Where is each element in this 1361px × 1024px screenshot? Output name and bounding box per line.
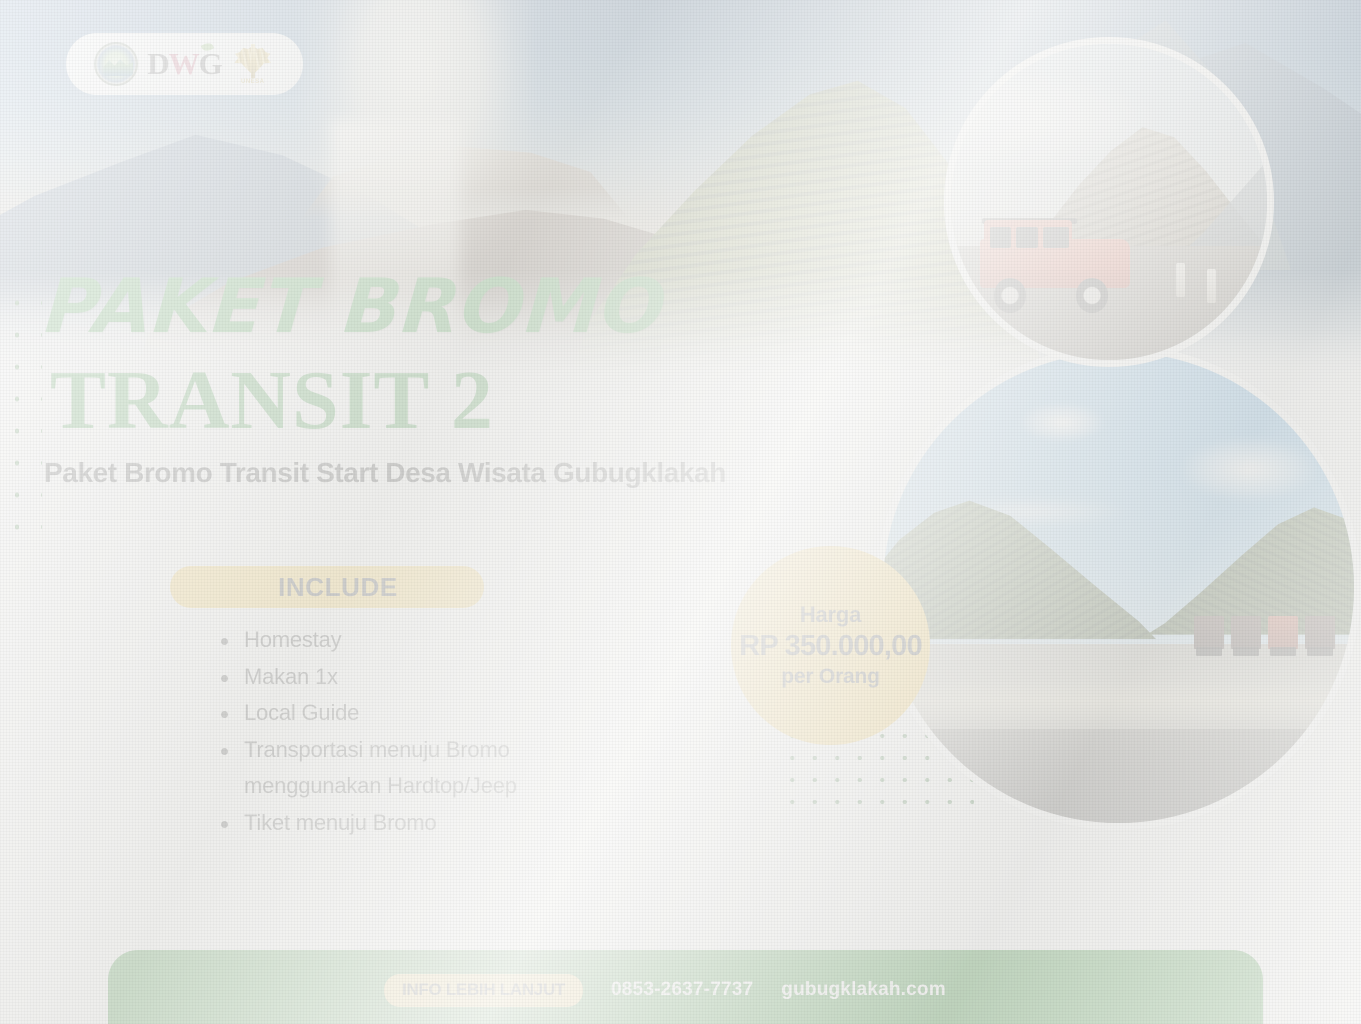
- caldera-jeep-row: [1194, 616, 1335, 649]
- jeep-wheel: [994, 278, 1026, 312]
- caldera-sand-foreground: [883, 729, 1354, 823]
- price-label: Harga: [800, 602, 861, 628]
- page-title-line1: PAKET BROMO: [42, 262, 671, 350]
- dwg-wordmark-logo: DWG: [147, 46, 222, 82]
- jeep-icon: [1268, 616, 1298, 649]
- contact-website[interactable]: gubugklakah.com: [781, 979, 946, 1001]
- jeep-window: [990, 227, 1010, 248]
- page-title-line2: TRANSIT 2: [50, 352, 494, 449]
- jeep-window: [1016, 227, 1038, 248]
- list-item: Homestay: [214, 622, 634, 659]
- contact-footer-bar: INFO LEBIH LANJUT 0853-2637-7737 gubugkl…: [108, 950, 1263, 1024]
- info-cta-badge[interactable]: INFO LEBIH LANJUT: [384, 974, 583, 1007]
- jeep-icon: [1231, 616, 1261, 649]
- caldera-cloud: [1166, 427, 1326, 512]
- unesa-label: UNESA: [231, 79, 275, 85]
- unesa-emblem-icon: UNESA: [231, 42, 275, 86]
- jeep-wheel: [1076, 278, 1108, 312]
- include-badge-label: INCLUDE: [170, 566, 484, 608]
- caldera-cloud: [1015, 399, 1109, 446]
- dwg-letter-g: G: [199, 46, 222, 82]
- jeep-icon: [1194, 616, 1224, 649]
- price-unit: per Orang: [781, 665, 880, 689]
- promotional-poster: DWG UNESA PAKET BROMO TRANSIT 2 Paket Br…: [0, 0, 1361, 1024]
- list-item: Tiket menuju Bromo: [214, 805, 634, 842]
- marker-post-icon: [1207, 269, 1216, 303]
- include-list: Homestay Makan 1x Local Guide Transporta…: [214, 622, 634, 841]
- page-subtitle: Paket Bromo Transit Start Desa Wisata Gu…: [44, 457, 726, 489]
- list-item: Local Guide: [214, 695, 634, 732]
- list-item: Makan 1x: [214, 659, 634, 696]
- dwg-letter-w: W: [169, 46, 199, 82]
- dwg-letter-d: D: [147, 46, 168, 82]
- list-item: Transportasi menuju Bromo menggunakan Ha…: [214, 732, 634, 805]
- price-amount: RP 350.000,00: [739, 630, 922, 663]
- include-badge: INCLUDE: [170, 566, 484, 608]
- bromo-caldera-photo: [876, 345, 1361, 830]
- logo-bar: DWG UNESA: [66, 33, 303, 95]
- decorative-dot-grid-left: [0, 283, 42, 548]
- red-jeep-icon: [970, 218, 1141, 313]
- desa-wisata-gubugklakah-seal-icon: [94, 42, 138, 86]
- caldera-sand-streak: [883, 682, 1354, 724]
- jeep-at-bromo-photo: [944, 37, 1274, 367]
- jeep-window: [1043, 227, 1069, 248]
- contact-phone[interactable]: 0853-2637-7737: [611, 979, 753, 1001]
- spear-icon: [251, 44, 255, 78]
- jeep-icon: [1305, 616, 1335, 649]
- marker-post-icon: [1176, 263, 1185, 297]
- price-badge: Harga RP 350.000,00 per Orang: [731, 546, 930, 745]
